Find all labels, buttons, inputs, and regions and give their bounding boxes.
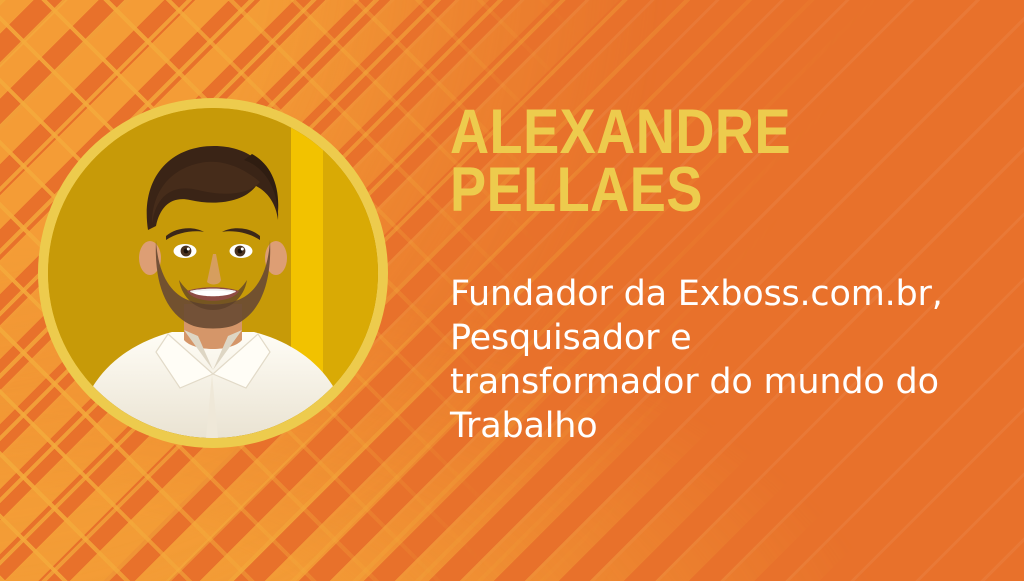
avatar-photo <box>48 108 378 438</box>
speaker-role: Fundador da Exboss.com.br, Pesquisador e… <box>450 272 1020 448</box>
speaker-text-block: ALEXANDRE PELLAES Fundador da Exboss.com… <box>450 104 1010 220</box>
speaker-banner: ALEXANDRE PELLAES Fundador da Exboss.com… <box>0 0 1024 581</box>
avatar <box>38 98 388 448</box>
portrait-illustration <box>48 108 378 438</box>
speaker-name: ALEXANDRE PELLAES <box>450 104 932 220</box>
